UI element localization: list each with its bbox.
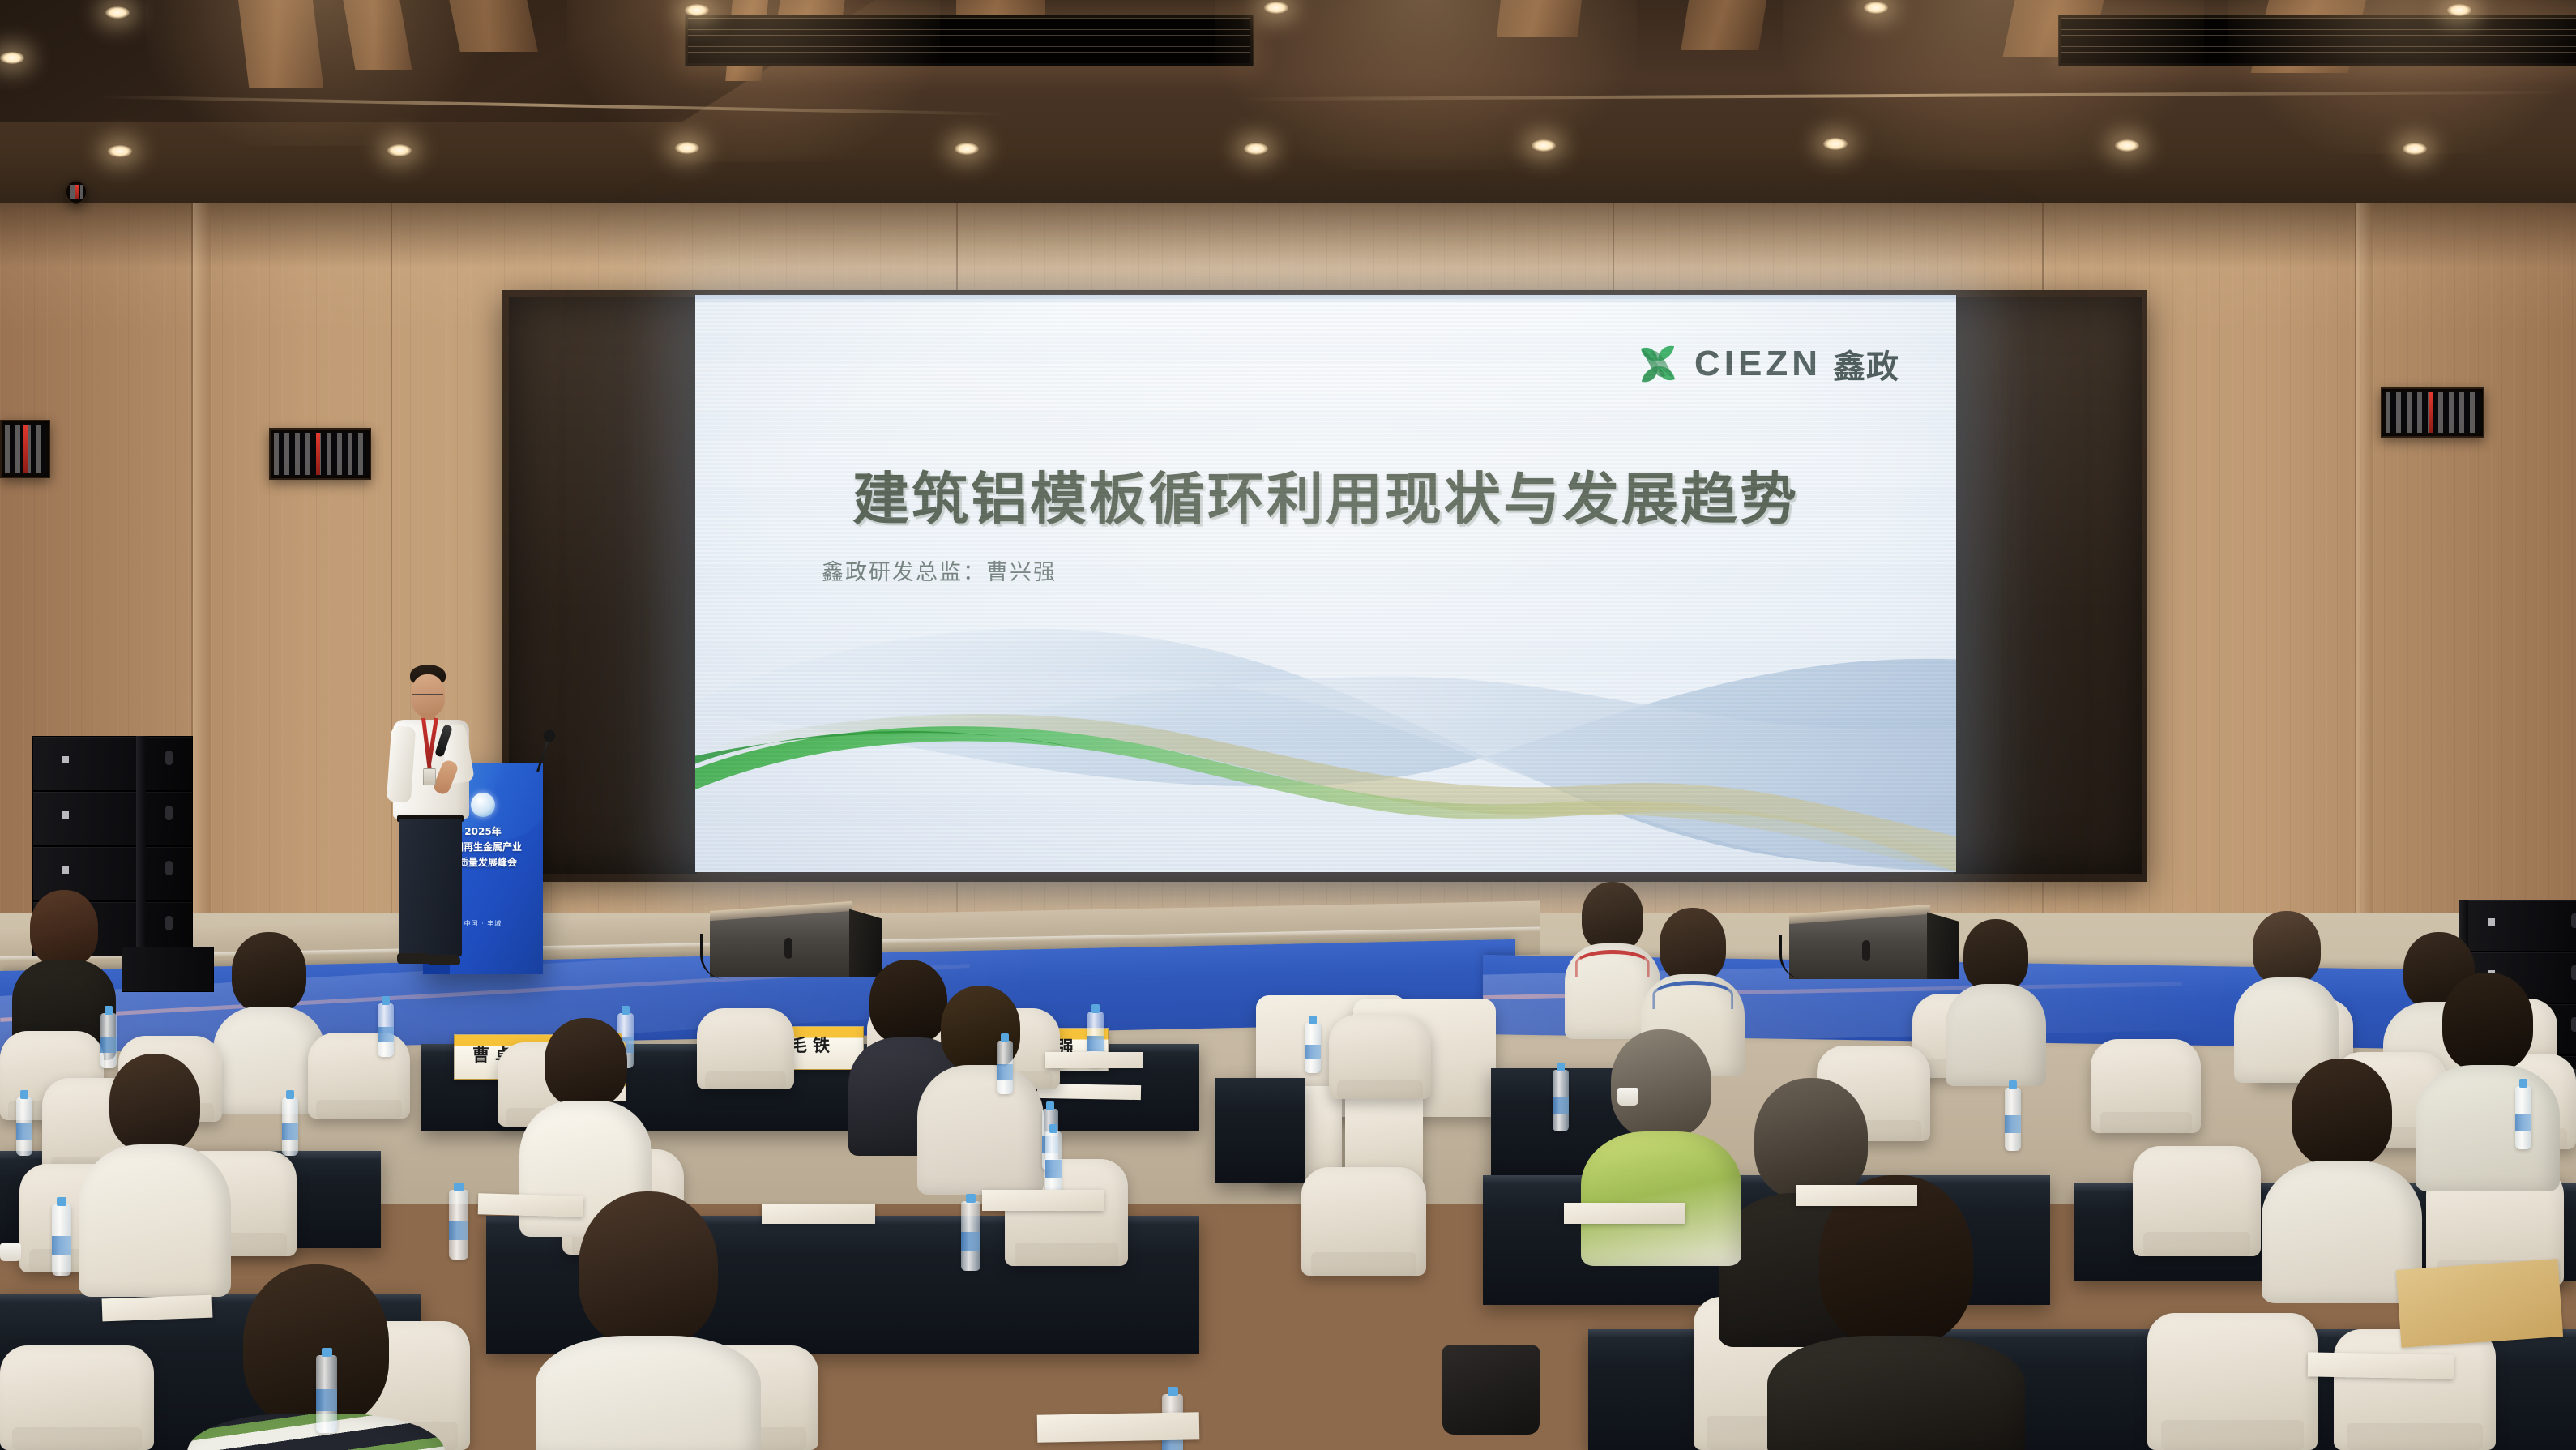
ceiling-downlight: [1264, 2, 1288, 14]
line-array-module: [32, 736, 193, 791]
notepad[interactable]: [1037, 1412, 1200, 1442]
stage-floor-monitor-right: [1789, 909, 1930, 979]
ceiling-downlight: [2403, 143, 2427, 155]
water-bottle[interactable]: [282, 1097, 298, 1156]
person-head: [232, 932, 306, 1013]
audience-chair[interactable]: [1329, 1015, 1431, 1099]
ceiling-downlight: [685, 4, 709, 16]
presenter-glasses: [412, 694, 443, 702]
presentation-screen[interactable]: CIEZN 鑫政 建筑铝模板循环利用现状与发展趋势 鑫政研发总监：曹兴强: [695, 295, 1956, 872]
line-array-rigging-frame: [136, 736, 146, 979]
presenter-shoe: [397, 953, 431, 964]
conference-hall-scene: CIEZN 鑫政 建筑铝模板循环利用现状与发展趋势 鑫政研发总监：曹兴强 202…: [0, 0, 2576, 1450]
person-head: [30, 890, 98, 966]
subwoofer-left: [122, 947, 214, 992]
water-bottle[interactable]: [316, 1355, 337, 1433]
ceiling-beam: [237, 0, 323, 88]
audience-person: [535, 1191, 762, 1450]
person-head: [109, 1054, 200, 1153]
slide-logo-wordmark-cn: 鑫政: [1833, 340, 1899, 387]
paper-cup[interactable]: [0, 1243, 21, 1261]
water-bottle[interactable]: [449, 1190, 468, 1260]
water-bottle[interactable]: [16, 1097, 32, 1156]
water-bottle[interactable]: [52, 1204, 71, 1276]
person-head: [1963, 919, 2028, 992]
side-table: [1215, 1078, 1305, 1183]
ceiling-downlight: [0, 52, 24, 64]
person-head: [545, 1018, 627, 1107]
audience-chair[interactable]: [2091, 1039, 2201, 1133]
wall-vent-grille: [269, 428, 371, 480]
wall-vent-grille: [2381, 387, 2484, 438]
water-bottle[interactable]: [961, 1201, 980, 1271]
nameplate-text: 毛铁: [790, 1033, 835, 1069]
presenter-badge: [423, 768, 436, 785]
notepad[interactable]: [982, 1190, 1104, 1211]
screen-bezel-top: [695, 295, 1956, 302]
audience-person: [1766, 1175, 2026, 1450]
water-bottle[interactable]: [1305, 1023, 1321, 1073]
wall-pillar: [2356, 203, 2373, 1021]
person-lanyard: [1575, 950, 1650, 977]
ceiling-downlight: [108, 145, 132, 157]
audience-chair[interactable]: [1301, 1167, 1426, 1276]
screen-right-panel: [1954, 297, 2142, 874]
presenter-trousers: [399, 819, 462, 956]
person-torso: [2416, 1065, 2560, 1191]
person-head: [2292, 1059, 2392, 1167]
audience-chair[interactable]: [0, 1345, 154, 1450]
slide-logo: CIEZN 鑫政: [1633, 339, 1899, 389]
audience-chair[interactable]: [308, 1033, 410, 1119]
person-torso: [1946, 984, 2046, 1086]
audience-person: [1945, 919, 2047, 1073]
audience-person: [2233, 911, 2340, 1070]
person-head: [579, 1191, 718, 1345]
person-head: [1582, 882, 1643, 952]
person-head: [2442, 973, 2533, 1071]
ceiling-downlight: [2447, 4, 2471, 16]
ceiling-downlight: [1864, 2, 1888, 14]
ceiling-downlight: [2115, 139, 2139, 152]
person-lanyard: [1652, 981, 1733, 1009]
ceiling-beam: [447, 0, 538, 52]
conference-folder[interactable]: [2396, 1259, 2563, 1348]
paper-cup[interactable]: [1617, 1088, 1638, 1106]
notepad[interactable]: [762, 1204, 875, 1224]
ceiling-beam: [1497, 0, 1583, 37]
water-bottle[interactable]: [1045, 1131, 1062, 1196]
notepad[interactable]: [1796, 1185, 1917, 1206]
ceiling-downlight: [1823, 138, 1848, 150]
notepad[interactable]: [102, 1295, 213, 1322]
ceiling-vent-grille: [685, 15, 1254, 66]
slide-subtitle: 鑫政研发总监：曹兴强: [822, 554, 1057, 586]
ceiling-downlight: [955, 143, 979, 155]
ceiling-camera-dome: [65, 180, 88, 204]
person-head-grey: [1611, 1029, 1711, 1138]
water-bottle[interactable]: [100, 1013, 117, 1068]
wall-vent-grille: [0, 420, 50, 478]
audience-chair[interactable]: [2334, 1329, 2496, 1450]
stage-floor-monitor-left: [710, 906, 852, 977]
shoulder-bag: [1442, 1345, 1540, 1435]
ceiling-downlight: [675, 142, 699, 154]
slide-logo-wordmark: CIEZN: [1694, 344, 1822, 384]
notepad[interactable]: [2308, 1352, 2454, 1379]
ceiling-beam: [1681, 0, 1767, 50]
person-torso: [1581, 1131, 1741, 1266]
water-bottle[interactable]: [2005, 1088, 2021, 1151]
water-bottle[interactable]: [2515, 1086, 2531, 1149]
presenter-shoe: [428, 955, 460, 965]
audience-chair[interactable]: [2147, 1313, 2318, 1450]
notepad[interactable]: [478, 1193, 584, 1217]
person-torso: [1767, 1336, 2025, 1450]
audience-person: [2261, 1059, 2423, 1294]
notepad[interactable]: [1045, 1052, 1143, 1068]
line-array-module: [32, 791, 193, 846]
ceiling-downlight: [387, 144, 412, 156]
audience-chair[interactable]: [697, 1008, 794, 1089]
wall-top-shadow: [0, 203, 2576, 267]
audience-person: [2415, 973, 2561, 1183]
ciezn-pinwheel-icon: [1633, 339, 1683, 389]
water-bottle[interactable]: [1553, 1070, 1569, 1131]
person-head: [2253, 911, 2321, 986]
wall-pillar: [193, 203, 211, 1021]
person-torso: [536, 1336, 761, 1450]
notepad[interactable]: [1564, 1203, 1685, 1224]
water-bottle[interactable]: [378, 1003, 394, 1057]
slide-title: 建筑铝模板循环利用现状与发展趋势: [852, 454, 1799, 536]
audience-chair[interactable]: [2133, 1146, 2261, 1256]
presenter: [374, 665, 504, 981]
water-bottle[interactable]: [997, 1041, 1013, 1094]
slide-wave-graphic: [695, 606, 1956, 872]
audience-person: [916, 986, 1045, 1188]
ceiling-downlight: [1532, 139, 1556, 152]
ceiling-downlight: [1244, 143, 1268, 155]
person-head: [1660, 908, 1726, 982]
ceiling-vent-grille: [2058, 15, 2576, 66]
audience-person: [78, 1054, 232, 1289]
ceiling-downlight: [105, 6, 130, 19]
person-torso: [917, 1065, 1044, 1195]
